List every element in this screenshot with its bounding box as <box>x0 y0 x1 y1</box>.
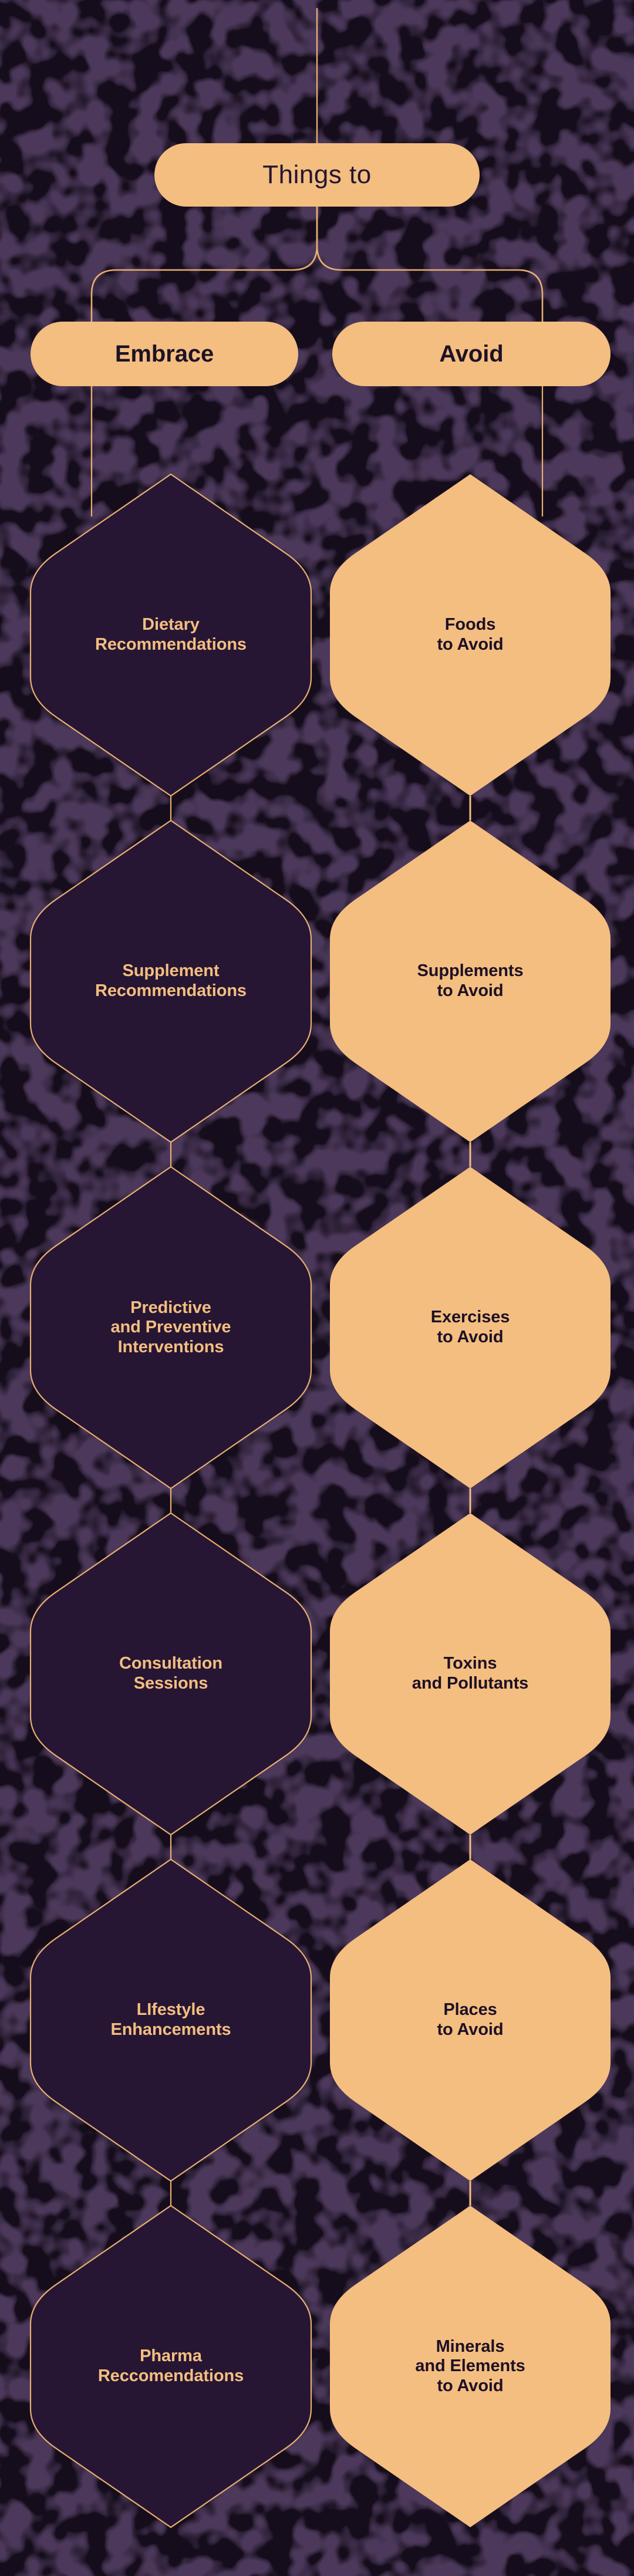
node-avoid-exercises-to-avoid[interactable] <box>330 1167 611 1488</box>
branch-node-embrace[interactable] <box>31 322 298 386</box>
node-avoid-minerals-and-elements-to-avoid[interactable] <box>330 2206 611 2534</box>
branch-node-avoid[interactable] <box>332 322 611 386</box>
connector-root-to-embrace <box>92 207 317 322</box>
connector-root-to-avoid <box>317 207 542 322</box>
node-avoid-foods-to-avoid[interactable] <box>330 474 611 796</box>
diagram-canvas: Things to Embrace Avoid Dietary Recommen… <box>0 0 634 2576</box>
node-embrace-lifestyle-enhancements[interactable] <box>31 1859 311 2181</box>
root-node-things-to[interactable] <box>154 143 480 207</box>
node-embrace-consultation-sessions[interactable] <box>31 1513 311 1835</box>
node-embrace-pharma-reccomendations[interactable] <box>31 2206 311 2534</box>
node-avoid-supplements-to-avoid[interactable] <box>330 821 611 1142</box>
node-avoid-toxins-and-pollutants[interactable] <box>330 1513 611 1835</box>
node-avoid-places-to-avoid[interactable] <box>330 1859 611 2181</box>
node-embrace-supplement-recommendations[interactable] <box>31 821 311 1142</box>
node-embrace-predictive-preventive-interventions[interactable] <box>31 1167 311 1488</box>
node-embrace-dietary-recommendations[interactable] <box>31 474 311 796</box>
